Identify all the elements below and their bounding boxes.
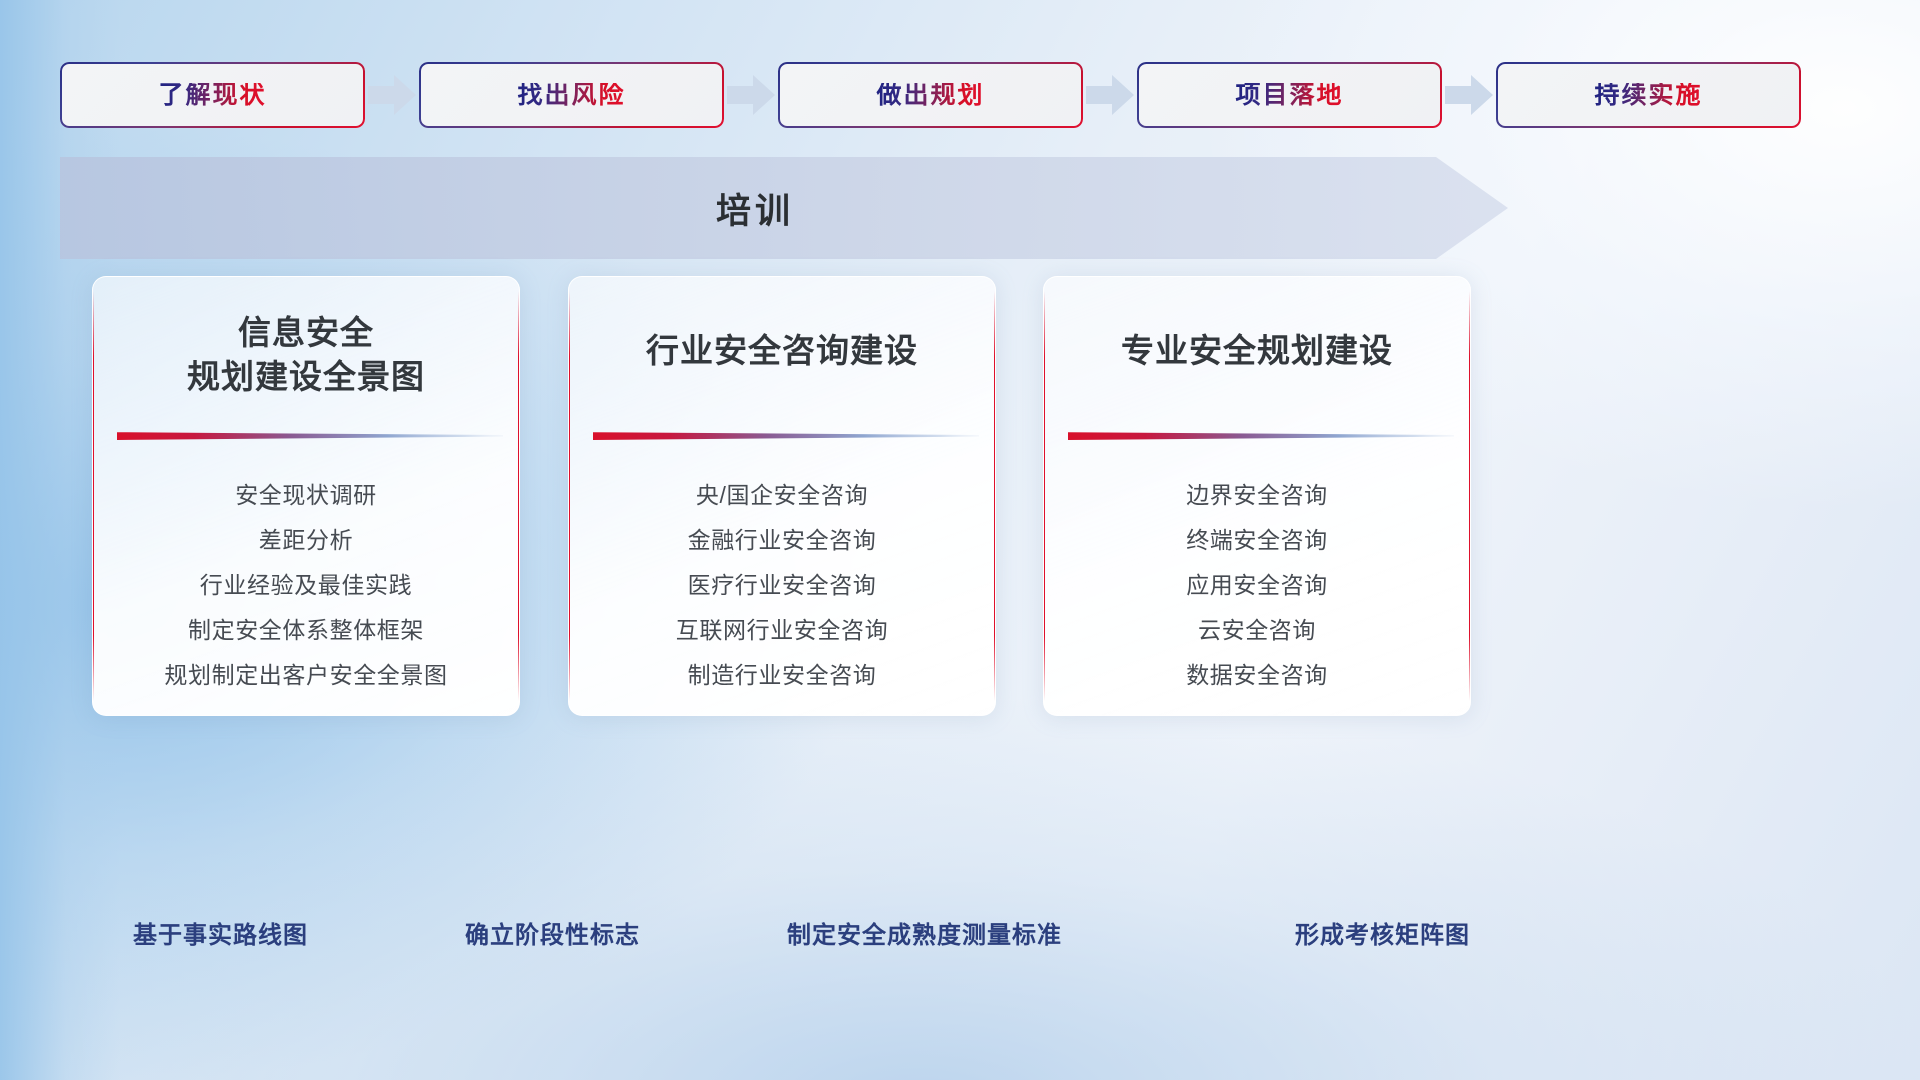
process-step-4[interactable]: 持续实施 — [1496, 62, 1801, 128]
process-step-1-label: 找出风险 — [517, 83, 625, 108]
process-step-3-label: 项目落地 — [1235, 83, 1343, 108]
card-divider — [1068, 429, 1454, 442]
card-title: 信息安全 规划建设全景图 — [93, 311, 519, 398]
list-item: 规划制定出客户安全全景图 — [93, 653, 519, 698]
card-panel[interactable]: 行业安全咨询建设 — [568, 276, 996, 716]
list-item: 互联网行业安全咨询 — [569, 608, 995, 653]
card-item-list: 边界安全咨询 终端安全咨询 应用安全咨询 云安全咨询 数据安全咨询 — [1044, 473, 1470, 698]
list-item: 安全现状调研 — [93, 473, 519, 518]
list-item: 金融行业安全咨询 — [569, 518, 995, 563]
process-step-2[interactable]: 做出规划 — [778, 62, 1083, 128]
bottom-label: 形成考核矩阵图 — [1295, 915, 1470, 950]
card-item-list: 央/国企安全咨询 金融行业安全咨询 医疗行业安全咨询 互联网行业安全咨询 制造行… — [569, 473, 995, 698]
bottom-label: 确立阶段性标志 — [465, 915, 640, 950]
process-step-4-label: 持续实施 — [1594, 83, 1702, 108]
list-item: 医疗行业安全咨询 — [569, 563, 995, 608]
process-step-4-wrap: 持续实施 — [1496, 62, 1801, 128]
list-item: 应用安全咨询 — [1044, 563, 1470, 608]
card-title: 专业安全规划建设 — [1044, 329, 1470, 373]
list-item: 差距分析 — [93, 518, 519, 563]
bottom-label-row: 基于事实路线图 确立阶段性标志 制定安全成熟度测量标准 形成考核矩阵图 — [0, 915, 1920, 955]
process-step-0-wrap: 了解现状 — [60, 62, 419, 128]
process-step-2-wrap: 做出规划 — [778, 62, 1137, 128]
process-arrow-0-icon — [365, 62, 419, 128]
process-step-0-label: 了解现状 — [158, 83, 266, 108]
process-arrow-3-icon — [1442, 62, 1496, 128]
list-item: 边界安全咨询 — [1044, 473, 1470, 518]
process-step-0[interactable]: 了解现状 — [60, 62, 365, 128]
list-item: 云安全咨询 — [1044, 608, 1470, 653]
list-item: 制造行业安全咨询 — [569, 653, 995, 698]
process-step-2-label: 做出规划 — [876, 83, 984, 108]
banner-title: 培训 — [60, 157, 1450, 259]
card-row: 信息安全 规划建设全景图 — [0, 276, 1920, 716]
card-divider — [117, 429, 503, 442]
process-step-1-wrap: 找出风险 — [419, 62, 778, 128]
card-item-list: 安全现状调研 差距分析 行业经验及最佳实践 制定安全体系整体框架 规划制定出客户… — [93, 473, 519, 698]
card-divider — [593, 429, 979, 442]
card-panel[interactable]: 专业安全规划建设 — [1043, 276, 1471, 716]
process-step-3[interactable]: 项目落地 — [1137, 62, 1442, 128]
process-step-1[interactable]: 找出风险 — [419, 62, 724, 128]
list-item: 数据安全咨询 — [1044, 653, 1470, 698]
list-item: 央/国企安全咨询 — [569, 473, 995, 518]
card-title: 行业安全咨询建设 — [569, 329, 995, 373]
process-step-3-wrap: 项目落地 — [1137, 62, 1496, 128]
list-item: 行业经验及最佳实践 — [93, 563, 519, 608]
card-panel[interactable]: 信息安全 规划建设全景图 — [92, 276, 520, 716]
bottom-label: 制定安全成熟度测量标准 — [787, 915, 1062, 950]
process-arrow-2-icon — [1083, 62, 1137, 128]
list-item: 终端安全咨询 — [1044, 518, 1470, 563]
list-item: 制定安全体系整体框架 — [93, 608, 519, 653]
training-banner: 培训 — [60, 157, 1508, 259]
slide-stage: 了解现状 找出风险 做出规划 — [0, 0, 1920, 1080]
process-arrow-1-icon — [724, 62, 778, 128]
process-step-row: 了解现状 找出风险 做出规划 — [60, 62, 1860, 128]
bottom-label: 基于事实路线图 — [133, 915, 308, 950]
